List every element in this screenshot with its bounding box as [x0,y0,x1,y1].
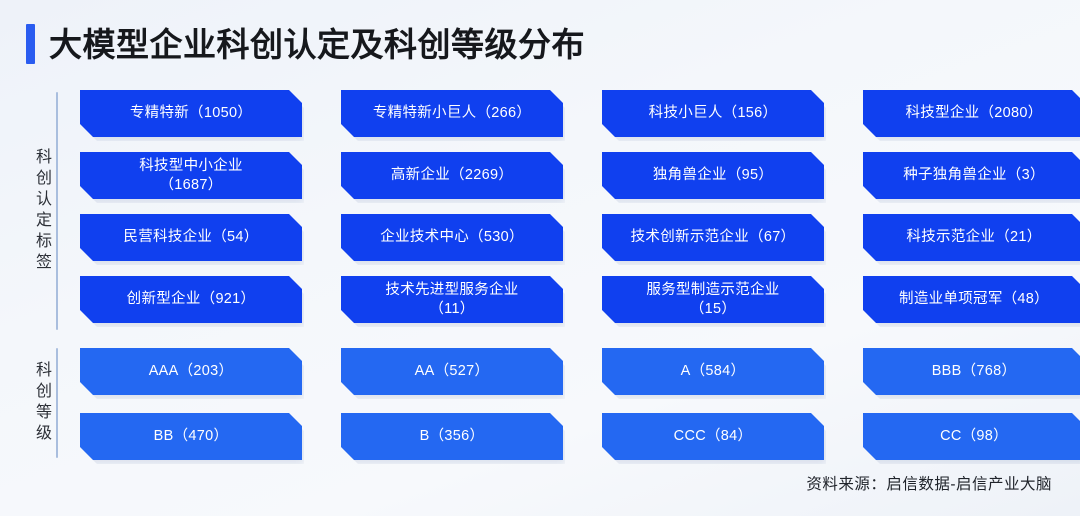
badge-cell: AA（527） [341,348,563,395]
badge-grid-tags: 专精特新（1050）专精特新小巨人（266）科技小巨人（156）科技型企业（20… [80,90,1060,323]
badge-cell: 服务型制造示范企业（15） [602,276,824,323]
badge-tags-13[interactable]: 技术先进型服务企业（11） [341,276,563,323]
infographic-page: 大模型企业科创认定及科创等级分布 科创认定标签 专精特新（1050）专精特新小巨… [0,0,1080,516]
badge-tags-1[interactable]: 专精特新小巨人（266） [341,90,563,137]
badge-cell: 创新型企业（921） [80,276,302,323]
page-title: 大模型企业科创认定及科创等级分布 [26,24,585,64]
badge-grades-6[interactable]: CCC（84） [602,413,824,460]
badge-cell: BB（470） [80,413,302,460]
badge-tags-7[interactable]: 种子独角兽企业（3） [863,152,1080,199]
badge-cell: 技术先进型服务企业（11） [341,276,563,323]
badge-tags-6[interactable]: 独角兽企业（95） [602,152,824,199]
badge-tags-10[interactable]: 技术创新示范企业（67） [602,214,824,261]
section-divider-grades [56,348,58,458]
badge-tags-2[interactable]: 科技小巨人（156） [602,90,824,137]
badge-tags-12[interactable]: 创新型企业（921） [80,276,302,323]
badge-cell: 独角兽企业（95） [602,152,824,199]
title-accent-bar [26,24,35,64]
badge-grades-0[interactable]: AAA（203） [80,348,302,395]
section-label-grades: 科创等级 [26,344,58,462]
badge-cell: B（356） [341,413,563,460]
badge-grades-1[interactable]: AA（527） [341,348,563,395]
badge-cell: 科技型企业（2080） [863,90,1080,137]
badge-cell: 制造业单项冠军（48） [863,276,1080,323]
badge-grades-5[interactable]: B（356） [341,413,563,460]
badge-cell: 科技小巨人（156） [602,90,824,137]
badge-cell: CCC（84） [602,413,824,460]
section-label-tags-text: 科创认定标签 [26,88,56,334]
badge-grades-3[interactable]: BBB（768） [863,348,1080,395]
badge-cell: 专精特新（1050） [80,90,302,137]
section-label-tags: 科创认定标签 [26,88,58,334]
badge-cell: CC（98） [863,413,1080,460]
badge-tags-3[interactable]: 科技型企业（2080） [863,90,1080,137]
badge-tags-0[interactable]: 专精特新（1050） [80,90,302,137]
badge-cell: BBB（768） [863,348,1080,395]
section-divider-tags [56,92,58,330]
page-title-text: 大模型企业科创认定及科创等级分布 [49,28,585,61]
badge-cell: 技术创新示范企业（67） [602,214,824,261]
badge-tags-5[interactable]: 高新企业（2269） [341,152,563,199]
section-label-grades-text: 科创等级 [26,344,56,462]
badge-grades-7[interactable]: CC（98） [863,413,1080,460]
badge-grades-4[interactable]: BB（470） [80,413,302,460]
badge-cell: 种子独角兽企业（3） [863,152,1080,199]
source-note: 资料来源：启信数据-启信产业大脑 [806,472,1052,494]
badge-cell: 科技型中小企业（1687） [80,152,302,199]
badge-cell: AAA（203） [80,348,302,395]
badge-tags-11[interactable]: 科技示范企业（21） [863,214,1080,261]
badge-cell: 企业技术中心（530） [341,214,563,261]
badge-tags-14[interactable]: 服务型制造示范企业（15） [602,276,824,323]
badge-cell: 民营科技企业（54） [80,214,302,261]
badge-grid-grades: AAA（203）AA（527）A（584）BBB（768）BB（470）B（35… [80,348,1060,460]
badge-tags-4[interactable]: 科技型中小企业（1687） [80,152,302,199]
badge-tags-8[interactable]: 民营科技企业（54） [80,214,302,261]
badge-cell: A（584） [602,348,824,395]
badge-cell: 科技示范企业（21） [863,214,1080,261]
badge-cell: 高新企业（2269） [341,152,563,199]
badge-cell: 专精特新小巨人（266） [341,90,563,137]
badge-grades-2[interactable]: A（584） [602,348,824,395]
badge-tags-15[interactable]: 制造业单项冠军（48） [863,276,1080,323]
badge-tags-9[interactable]: 企业技术中心（530） [341,214,563,261]
